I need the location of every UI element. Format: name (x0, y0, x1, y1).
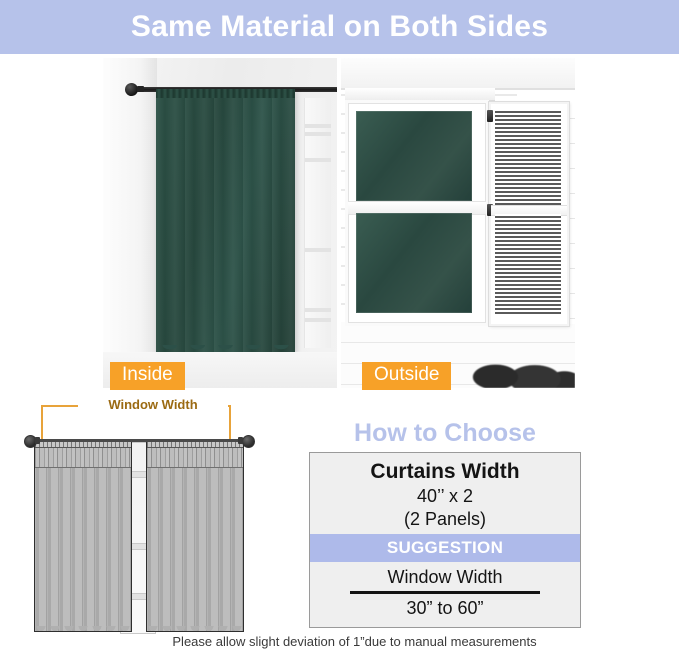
table-row-window-width-range: 30” to 60” (310, 594, 580, 627)
header-banner: Same Material on Both Sides (0, 0, 679, 54)
exterior-shrub (469, 344, 575, 388)
wall-edge (103, 58, 157, 388)
table-row-panels: (2 Panels) (310, 508, 580, 534)
diagram-finial-right-neck (238, 437, 243, 444)
table-row-curtains-width: Curtains Width (310, 453, 580, 484)
diagram-curtain-panel-left (34, 440, 132, 632)
window-pane-bottom (356, 213, 472, 313)
table-row-suggestion-band: SUGGESTION (310, 534, 580, 562)
diagram-finial-left-neck (35, 437, 40, 444)
page-title: Same Material on Both Sides (131, 12, 548, 42)
rod-finial-neck (137, 86, 144, 92)
diagram-rod-assembly (24, 434, 254, 448)
table-row-window-width: Window Width (310, 562, 580, 589)
interior-shelving (304, 98, 331, 348)
badge-outside: Outside (362, 362, 451, 390)
how-to-choose-title: How to Choose (300, 418, 590, 448)
shutter-louvers-bottom (495, 214, 561, 316)
louvered-shutter (489, 102, 569, 326)
diagram-curtain-rod (34, 439, 244, 442)
size-table: Curtains Width 40’’ x 2 (2 Panels) SUGGE… (309, 452, 581, 628)
exterior-soffit (341, 58, 575, 90)
exterior-window-frame (345, 100, 489, 326)
footer-note: Please allow slight deviation of 1”due t… (0, 634, 679, 650)
curtain-rod-pocket (156, 89, 295, 98)
window-pane-top (356, 111, 472, 201)
curtain-width-diagram: Window Width (24, 398, 282, 646)
shutter-hinge-icon (487, 110, 493, 122)
green-curtain-panel (156, 89, 295, 352)
photo-comparison-strip (103, 58, 575, 388)
badge-inside: Inside (110, 362, 185, 390)
dimension-label: Window Width (78, 398, 228, 412)
photo-outside-view (341, 58, 575, 388)
diagram-finial-right-icon (242, 435, 255, 448)
table-row-size: 40’’ x 2 (310, 484, 580, 508)
how-to-choose-section: How to Choose Curtains Width 40’’ x 2 (2… (300, 418, 590, 628)
shutter-louvers-top (495, 109, 561, 205)
photo-inside-view (103, 58, 337, 388)
diagram-curtain-panel-right (146, 440, 244, 632)
